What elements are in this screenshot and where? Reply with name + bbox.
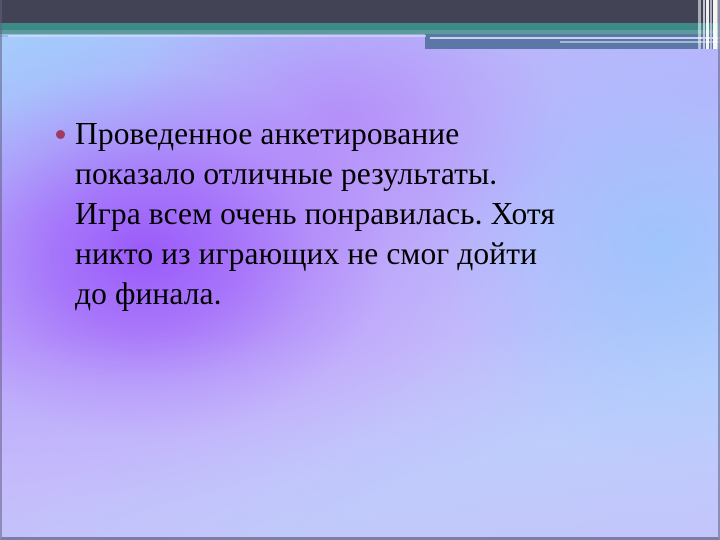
- bullet-paragraph-text: Проведенное анкетирование показало отлич…: [56, 114, 656, 314]
- list-item: Проведенное анкетирование показало отлич…: [56, 114, 656, 314]
- presentation-slide: Проведенное анкетирование показало отлич…: [0, 0, 720, 540]
- bullet-list: Проведенное анкетирование показало отлич…: [56, 114, 656, 314]
- slide-content-area: Проведенное анкетирование показало отлич…: [0, 0, 720, 540]
- bullet-dot-icon: [56, 130, 65, 139]
